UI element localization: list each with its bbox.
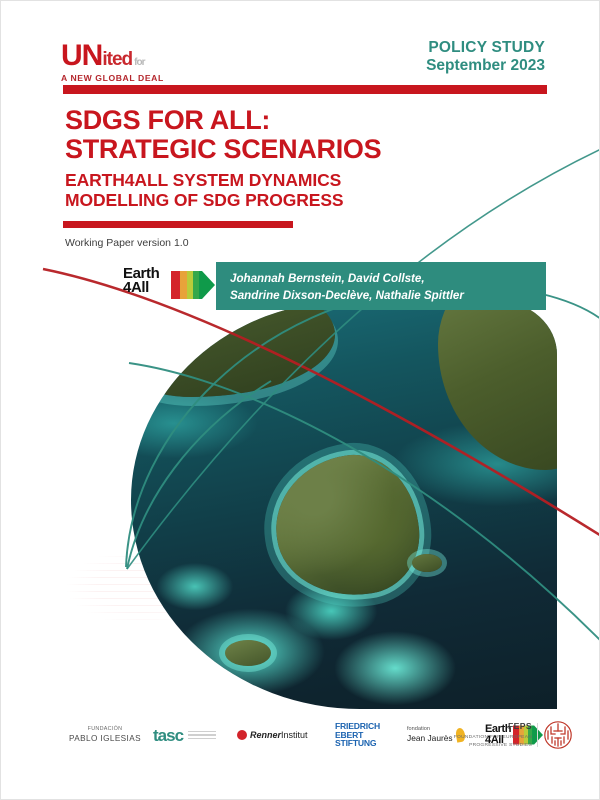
tasc-rule-lines — [188, 728, 216, 741]
united-logo-ited: ited — [102, 49, 132, 70]
fpi-big: PABLO IGLESIAS — [69, 733, 141, 745]
feps-big: FEPS — [454, 720, 532, 734]
tasc-wordmark: tasc — [153, 727, 183, 744]
renner-dot-icon — [237, 730, 247, 740]
feps-divider — [537, 723, 538, 747]
island-shape-small — [225, 640, 271, 666]
logo-tasc: tasc — [153, 713, 229, 757]
series-label-line2: September 2023 — [426, 57, 545, 75]
renner-big: Renner — [250, 730, 281, 740]
title-rule — [63, 221, 293, 228]
feps-small2: PROGRESSIVE STUDIES — [454, 742, 532, 750]
united-logo-un: UN — [61, 39, 102, 72]
series-label: POLICY STUDY September 2023 — [426, 39, 545, 76]
page-title: SDGS FOR ALL: STRATEGIC SCENARIOS — [65, 106, 535, 163]
author-banner: Johannah Bernstein, David Collste, Sandr… — [216, 262, 546, 310]
cover-image — [131, 301, 557, 709]
page-title-line1: SDGS FOR ALL: — [65, 106, 535, 135]
island-shape-right — [438, 301, 557, 470]
page-subtitle-line2: MODELLING OF SDG PROGRESS — [65, 191, 485, 211]
earth4all-arrow-icon — [171, 269, 215, 301]
island-shape-small-2 — [412, 554, 442, 572]
page-subtitle-line1: EARTH4ALL SYSTEM DYNAMICS — [65, 171, 485, 191]
feps-small1: FOUNDATION FOR EUROPEAN — [454, 734, 532, 742]
fes-line3: STIFTUNG — [335, 739, 380, 748]
author-line1: Johannah Bernstein, David Collste, — [230, 271, 546, 288]
page-subtitle: EARTH4ALL SYSTEM DYNAMICS MODELLING OF S… — [65, 171, 485, 210]
footer-logos: FUNDACIÓN PABLO IGLESIAS tasc RennerInst… — [1, 713, 600, 763]
logo-fundacion-pablo-iglesias: FUNDACIÓN PABLO IGLESIAS — [63, 713, 147, 757]
logo-friedrich-ebert-stiftung: FRIEDRICH EBERT STIFTUNG — [335, 713, 401, 757]
version-note: Working Paper version 1.0 — [65, 237, 189, 249]
logo-renner-institut: RennerInstitut — [237, 713, 327, 757]
united-logo-for: for — [134, 57, 144, 68]
renner-small: Institut — [281, 730, 308, 740]
fpi-small: FUNDACIÓN — [69, 725, 141, 733]
logo-feps: FEPS FOUNDATION FOR EUROPEAN PROGRESSIVE… — [443, 713, 573, 757]
page-title-line2: STRATEGIC SCENARIOS — [65, 135, 535, 164]
author-line2: Sandrine Dixson-Declève, Nathalie Spittl… — [230, 288, 546, 305]
feps-brain-maze-icon — [543, 720, 573, 750]
cover-page: UNitedfor A NEW GLOBAL DEAL POLICY STUDY… — [0, 0, 600, 800]
series-label-line1: POLICY STUDY — [426, 39, 545, 57]
island-shape-main — [267, 447, 427, 605]
cover-image-water — [131, 301, 557, 709]
united-logo-tagline: A NEW GLOBAL DEAL — [61, 73, 211, 83]
island-shape-top — [131, 301, 335, 397]
header-rule — [63, 85, 547, 94]
united-logo: UNitedfor A NEW GLOBAL DEAL — [61, 41, 211, 83]
earth4all-logo: Earth 4All — [123, 267, 215, 307]
